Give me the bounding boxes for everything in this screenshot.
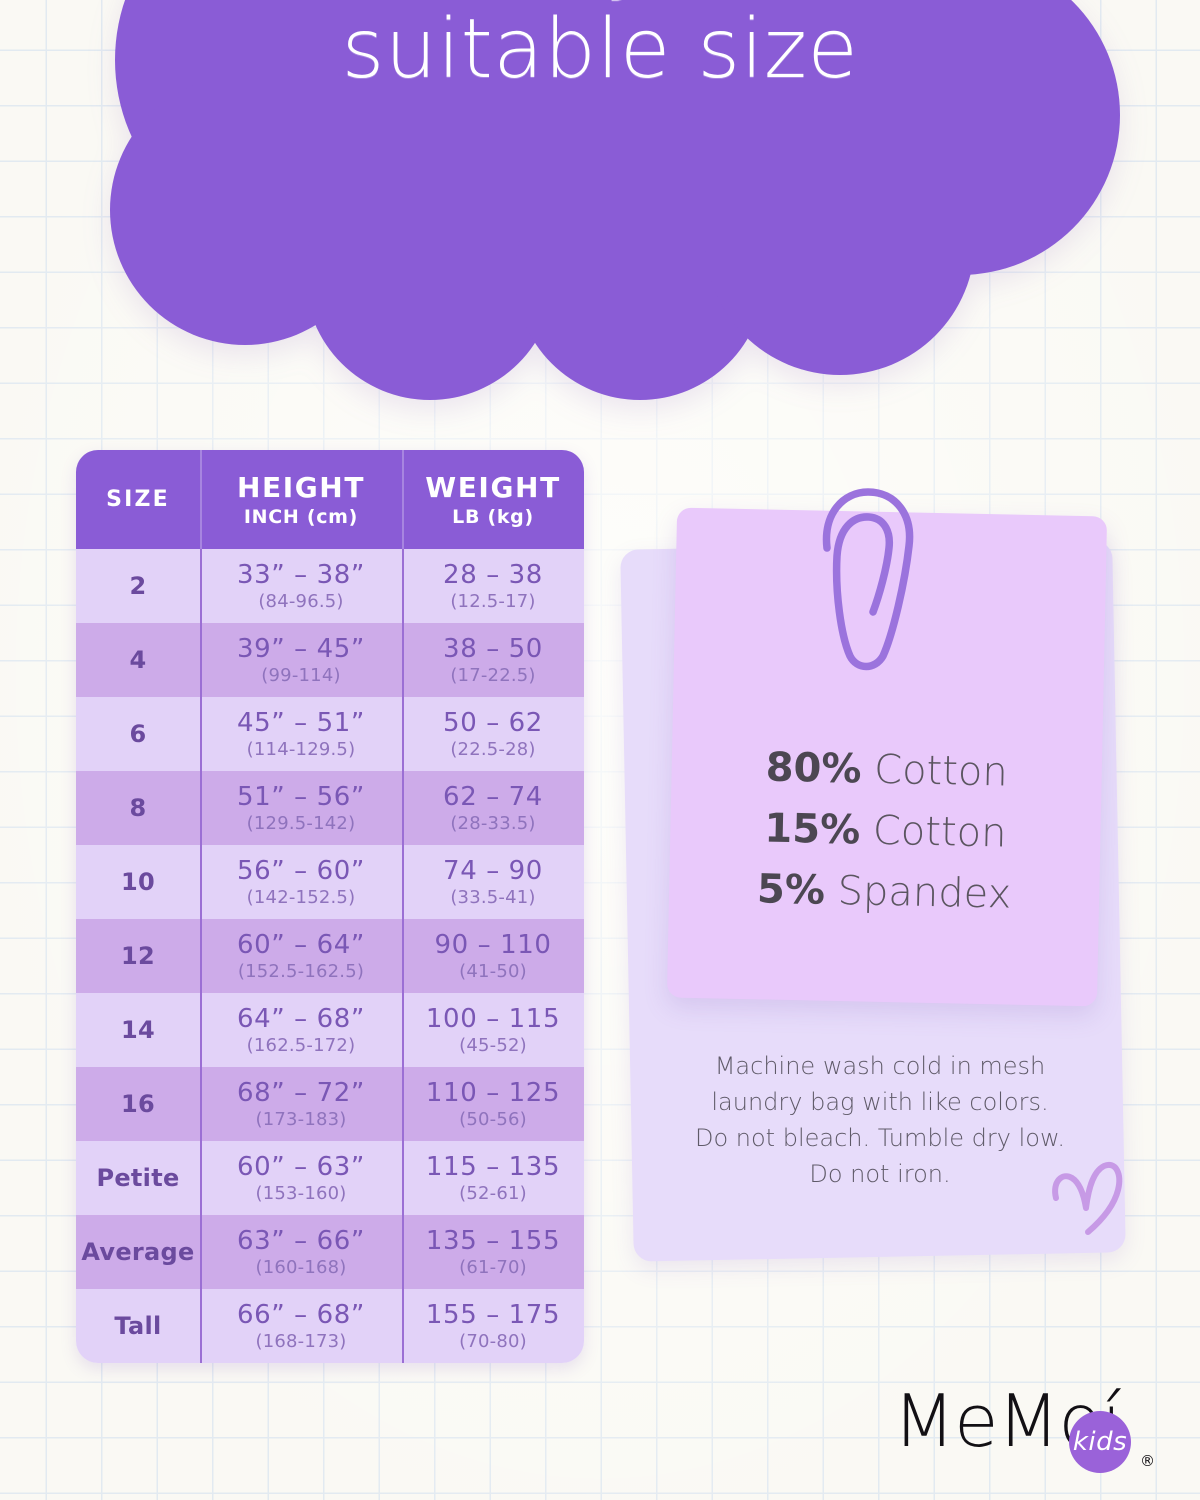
composition-line: 5% Spandex — [669, 857, 1100, 927]
table-row: 4 39” – 45”(99-114) 38 – 50(17-22.5) — [76, 623, 584, 697]
cloud-header-shape: Find your suitable size — [0, 0, 1200, 400]
row-size-value: 12 — [121, 942, 155, 970]
row-weight-lb: 62 – 74 — [443, 782, 543, 812]
row-weight-cell: 100 – 115(45-52) — [402, 993, 584, 1067]
table-row: 6 45” – 51”(114-129.5) 50 – 62(22.5-28) — [76, 697, 584, 771]
row-size-value: Tall — [114, 1312, 161, 1340]
row-size-value: 6 — [130, 720, 147, 748]
row-height-cell: 51” – 56”(129.5-142) — [200, 771, 402, 845]
table-header-weight-label: WEIGHT — [425, 471, 561, 504]
care-line: Do not bleach. Tumble dry low. — [655, 1120, 1105, 1156]
table-header-row: SIZE HEIGHT INCH (cm) WEIGHT LB (kg) — [76, 450, 584, 549]
row-height-inch: 45” – 51” — [237, 708, 365, 738]
row-height-cm: (84-96.5) — [258, 591, 343, 612]
row-weight-cell: 115 – 135(52-61) — [402, 1141, 584, 1215]
row-weight-cell: 74 – 90(33.5-41) — [402, 845, 584, 919]
care-line: Do not iron. — [655, 1156, 1105, 1192]
row-height-cell: 63” – 66”(160-168) — [200, 1215, 402, 1289]
row-height-cm: (168-173) — [255, 1331, 346, 1352]
table-header-weight-unit: LB (kg) — [452, 506, 534, 528]
logo-kids-badge: kids — [1069, 1411, 1131, 1473]
row-weight-cell: 155 – 175(70-80) — [402, 1289, 584, 1363]
row-size-value: 4 — [130, 646, 147, 674]
row-weight-kg: (41-50) — [459, 961, 527, 982]
row-weight-cell: 110 – 125(50-56) — [402, 1067, 584, 1141]
row-height-inch: 66” – 68” — [237, 1300, 365, 1330]
row-height-inch: 68” – 72” — [237, 1078, 365, 1108]
row-weight-lb: 90 – 110 — [434, 930, 551, 960]
composition-percent: 5% — [757, 866, 826, 913]
table-row: 10 56” – 60”(142-152.5) 74 – 90(33.5-41) — [76, 845, 584, 919]
row-weight-cell: 62 – 74(28-33.5) — [402, 771, 584, 845]
row-weight-cell: 50 – 62(22.5-28) — [402, 697, 584, 771]
row-height-cell: 64” – 68”(162.5-172) — [200, 993, 402, 1067]
row-height-inch: 63” – 66” — [237, 1226, 365, 1256]
row-size-value: 10 — [121, 868, 155, 896]
row-weight-cell: 90 – 110(41-50) — [402, 919, 584, 993]
row-size-cell: 8 — [76, 771, 200, 845]
row-height-cm: (129.5-142) — [247, 813, 356, 834]
row-height-cm: (142-152.5) — [247, 887, 356, 908]
row-height-inch: 33” – 38” — [237, 560, 365, 590]
row-size-cell: 10 — [76, 845, 200, 919]
row-height-inch: 60” – 64” — [237, 930, 365, 960]
care-line: Machine wash cold in mesh — [655, 1048, 1105, 1084]
row-size-value: 14 — [121, 1016, 155, 1044]
row-weight-lb: 155 – 175 — [426, 1300, 560, 1330]
care-instructions: Machine wash cold in mesh laundry bag wi… — [655, 1048, 1105, 1192]
row-height-cm: (114-129.5) — [247, 739, 356, 760]
row-weight-lb: 135 – 155 — [426, 1226, 560, 1256]
row-size-cell: 16 — [76, 1067, 200, 1141]
row-height-cell: 56” – 60”(142-152.5) — [200, 845, 402, 919]
row-weight-lb: 74 – 90 — [443, 856, 543, 886]
row-height-cm: (173-183) — [255, 1109, 346, 1130]
row-weight-kg: (52-61) — [459, 1183, 527, 1204]
row-height-inch: 56” – 60” — [237, 856, 365, 886]
row-weight-lb: 50 – 62 — [443, 708, 543, 738]
row-weight-kg: (50-56) — [459, 1109, 527, 1130]
table-row: 14 64” – 68”(162.5-172) 100 – 115(45-52) — [76, 993, 584, 1067]
row-weight-lb: 38 – 50 — [443, 634, 543, 664]
table-header-size-label: SIZE — [106, 487, 170, 512]
row-height-inch: 60” – 63” — [237, 1152, 365, 1182]
row-weight-kg: (28-33.5) — [450, 813, 535, 834]
row-weight-kg: (70-80) — [459, 1331, 527, 1352]
row-size-cell: 4 — [76, 623, 200, 697]
care-line: laundry bag with like colors. — [655, 1084, 1105, 1120]
row-height-cm: (99-114) — [261, 665, 340, 686]
table-header-weight: WEIGHT LB (kg) — [402, 450, 584, 549]
table-header-height-label: HEIGHT — [237, 471, 365, 504]
table-row: 2 33” – 38”(84-96.5) 28 – 38(12.5-17) — [76, 549, 584, 623]
row-size-cell: Tall — [76, 1289, 200, 1363]
composition-material: Cotton — [874, 747, 1009, 796]
row-size-cell: 14 — [76, 993, 200, 1067]
table-header-size: SIZE — [76, 450, 200, 549]
row-size-cell: Average — [76, 1215, 200, 1289]
composition-line: 80% Cotton — [671, 736, 1102, 806]
row-weight-kg: (61-70) — [459, 1257, 527, 1278]
row-height-cm: (160-168) — [255, 1257, 346, 1278]
row-height-inch: 64” – 68” — [237, 1004, 365, 1034]
row-size-cell: 2 — [76, 549, 200, 623]
row-weight-lb: 28 – 38 — [443, 560, 543, 590]
table-row: Petite 60” – 63”(153-160) 115 – 135(52-6… — [76, 1141, 584, 1215]
row-height-cell: 66” – 68”(168-173) — [200, 1289, 402, 1363]
page-title: Find your suitable size — [0, 0, 1200, 96]
logo-kids-badge-text: kids — [1073, 1427, 1127, 1457]
row-weight-kg: (45-52) — [459, 1035, 527, 1056]
registered-trademark-symbol: ® — [1140, 1452, 1155, 1470]
row-size-value: 8 — [130, 794, 147, 822]
row-size-value: 2 — [130, 572, 147, 600]
table-row: 8 51” – 56”(129.5-142) 62 – 74(28-33.5) — [76, 771, 584, 845]
row-height-cell: 60” – 64”(152.5-162.5) — [200, 919, 402, 993]
row-height-cell: 60” – 63”(153-160) — [200, 1141, 402, 1215]
row-weight-cell: 28 – 38(12.5-17) — [402, 549, 584, 623]
page-title-line-2: suitable size — [0, 4, 1200, 96]
row-size-value: Petite — [96, 1164, 179, 1192]
row-height-cm: (162.5-172) — [247, 1035, 356, 1056]
row-weight-kg: (17-22.5) — [450, 665, 535, 686]
table-row: 16 68” – 72”(173-183) 110 – 125(50-56) — [76, 1067, 584, 1141]
row-height-cell: 33” – 38”(84-96.5) — [200, 549, 402, 623]
row-height-cell: 68” – 72”(173-183) — [200, 1067, 402, 1141]
row-size-value: Average — [81, 1238, 194, 1266]
row-height-inch: 39” – 45” — [237, 634, 365, 664]
table-row: 12 60” – 64”(152.5-162.5) 90 – 110(41-50… — [76, 919, 584, 993]
table-header-height: HEIGHT INCH (cm) — [200, 450, 402, 549]
row-weight-lb: 110 – 125 — [426, 1078, 560, 1108]
row-weight-lb: 100 – 115 — [426, 1004, 560, 1034]
fabric-composition-list: 80% Cotton 15% Cotton 5% Spandex — [669, 736, 1103, 927]
paperclip-icon — [813, 484, 923, 674]
composition-material: Spandex — [837, 868, 1012, 918]
composition-material: Cotton — [872, 808, 1007, 857]
composition-percent: 80% — [765, 744, 862, 792]
row-size-cell: 6 — [76, 697, 200, 771]
row-height-cm: (153-160) — [255, 1183, 346, 1204]
table-header-height-unit: INCH (cm) — [244, 506, 358, 528]
row-weight-kg: (33.5-41) — [450, 887, 535, 908]
row-height-cell: 45” – 51”(114-129.5) — [200, 697, 402, 771]
row-height-inch: 51” – 56” — [237, 782, 365, 812]
composition-percent: 15% — [764, 805, 861, 853]
row-height-cell: 39” – 45”(99-114) — [200, 623, 402, 697]
row-size-cell: 12 — [76, 919, 200, 993]
row-weight-lb: 115 – 135 — [426, 1152, 560, 1182]
memoi-kids-logo: MeMoí kids ® — [893, 1385, 1163, 1485]
row-size-cell: Petite — [76, 1141, 200, 1215]
table-row: Tall 66” – 68”(168-173) 155 – 175(70-80) — [76, 1289, 584, 1363]
row-weight-cell: 38 – 50(17-22.5) — [402, 623, 584, 697]
size-chart-table: SIZE HEIGHT INCH (cm) WEIGHT LB (kg) 2 3… — [76, 450, 584, 1363]
row-height-cm: (152.5-162.5) — [238, 961, 364, 982]
row-weight-kg: (12.5-17) — [450, 591, 535, 612]
table-row: Average 63” – 66”(160-168) 135 – 155(61-… — [76, 1215, 584, 1289]
row-weight-cell: 135 – 155(61-70) — [402, 1215, 584, 1289]
row-weight-kg: (22.5-28) — [450, 739, 535, 760]
composition-line: 15% Cotton — [670, 796, 1101, 866]
row-size-value: 16 — [121, 1090, 155, 1118]
heart-icon — [1048, 1158, 1126, 1242]
